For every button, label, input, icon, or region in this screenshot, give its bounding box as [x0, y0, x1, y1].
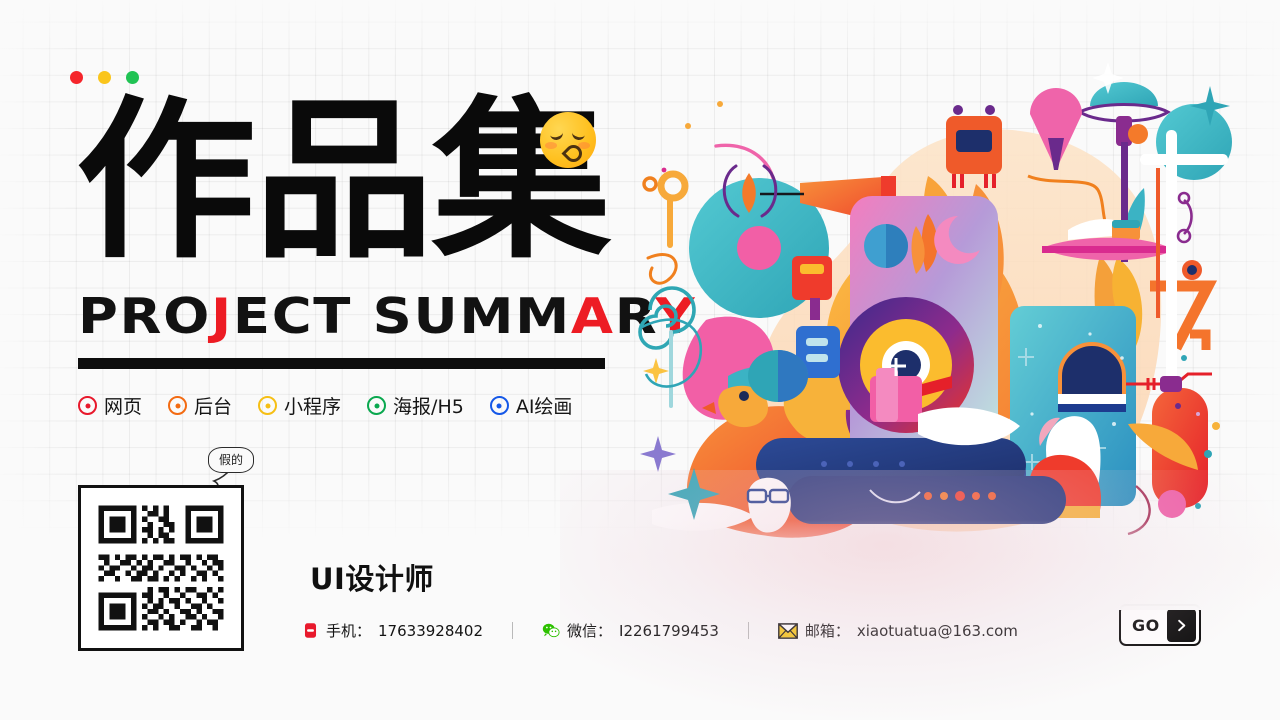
page-title-cn: 作品集: [76, 92, 610, 270]
tag-ai-painting[interactable]: AI绘画: [490, 392, 573, 419]
art-gadget-stem: [810, 298, 820, 320]
qr-note-bubble: 假的: [208, 447, 254, 473]
target-icon: [168, 396, 187, 415]
contact-label: 手机：: [326, 620, 371, 641]
art-box-bolt-r: [985, 105, 995, 115]
art-stem-2: [669, 330, 673, 408]
art-bar-navy-2: [788, 476, 1066, 524]
art-gadget-slot: [800, 264, 824, 274]
art-module-slot-2: [806, 354, 828, 362]
tag-label: 海报/H5: [393, 392, 464, 419]
art-lamp-dome: [1090, 82, 1158, 106]
contact-value: 17633928402: [378, 622, 483, 640]
target-icon: [78, 396, 97, 415]
subtitle-part-accent: J: [211, 288, 233, 345]
target-icon: [490, 396, 509, 415]
contact-label: 微信：: [567, 620, 612, 641]
art-plate-edge: [1042, 246, 1174, 253]
art-dot-lilac: [1196, 412, 1200, 416]
tag-label: 小程序: [284, 392, 341, 419]
phone-icon: [302, 622, 319, 639]
contact-separator: [748, 622, 749, 639]
art-hook-ring-2: [1178, 230, 1190, 242]
go-button-label: GO: [1132, 616, 1160, 635]
contact-label: 邮箱：: [805, 620, 850, 641]
wechat-icon: [542, 622, 560, 639]
poster-canvas: 作品集 PROJECT SUMMARY 网页 后台 小程序 海报/H5: [0, 0, 1280, 720]
art-gadget-red: [792, 256, 832, 300]
tag-label: AI绘画: [516, 392, 573, 419]
art-dome-band-2: [1058, 404, 1126, 412]
contact-value: I2261799453: [619, 622, 719, 640]
kissing-face-icon: [540, 112, 596, 168]
go-button[interactable]: GO: [1119, 604, 1201, 646]
art-stem: [667, 196, 673, 248]
art-capsule-foot: [1158, 490, 1186, 518]
target-icon: [367, 396, 386, 415]
tag-backend[interactable]: 后台: [168, 392, 232, 419]
art-dome: [1060, 344, 1124, 396]
art-curl: [648, 255, 676, 284]
tag-miniprogram[interactable]: 小程序: [258, 392, 341, 419]
contact-list: 手机： 17633928402 微信： I2261799453 邮: [302, 620, 1018, 641]
tag-label: 后台: [194, 392, 232, 419]
subtitle-part: ECT SUMM: [233, 288, 571, 345]
art-lamp-knob: [1128, 124, 1148, 144]
art-capsule-cap: [1160, 376, 1182, 392]
email-icon: [778, 623, 798, 639]
category-tag-list: 网页 后台 小程序 海报/H5 AI绘画: [78, 392, 572, 419]
contact-wechat[interactable]: 微信： I2261799453: [542, 620, 719, 641]
art-plate-box-lid: [1112, 220, 1140, 228]
art-module-slot-1: [806, 338, 828, 346]
art-circle-outline: [661, 174, 685, 198]
art-dot-purple: [1175, 403, 1181, 409]
contact-value: xiaotuatua@163.com: [857, 622, 1018, 640]
contact-email[interactable]: 邮箱： xiaotuatua@163.com: [778, 620, 1018, 641]
art-disc-core: [737, 226, 781, 270]
qr-code[interactable]: [78, 485, 244, 651]
tag-webpage[interactable]: 网页: [78, 392, 142, 419]
tag-label: 网页: [104, 392, 142, 419]
art-box-screen: [956, 130, 992, 152]
art-cup-front: [876, 368, 898, 422]
target-icon: [258, 396, 277, 415]
page-subtitle-en: PROJECT SUMMARY: [78, 291, 696, 343]
art-glyph-corner: [1190, 334, 1206, 350]
art-box-bolt-l: [953, 105, 963, 115]
art-dome-band: [1058, 394, 1126, 404]
contact-phone[interactable]: 手机： 17633928402: [302, 620, 483, 641]
contact-separator: [512, 622, 513, 639]
art-dot-ring: [644, 178, 656, 190]
profile-role: UI设计师: [310, 556, 434, 598]
chevron-right-icon: [1167, 609, 1196, 642]
art-spiral: [640, 288, 694, 348]
art-bird-eye: [739, 391, 749, 401]
title-divider: [78, 358, 605, 369]
qr-code-image: [93, 500, 229, 636]
tag-poster-h5[interactable]: 海报/H5: [367, 392, 464, 419]
art-eye-pupil: [1187, 265, 1197, 275]
artwork-illustration: [628, 58, 1232, 538]
art-post-crossbar: [1140, 154, 1228, 165]
subtitle-part: PRO: [78, 288, 211, 345]
subtitle-part-accent: A: [571, 288, 615, 345]
